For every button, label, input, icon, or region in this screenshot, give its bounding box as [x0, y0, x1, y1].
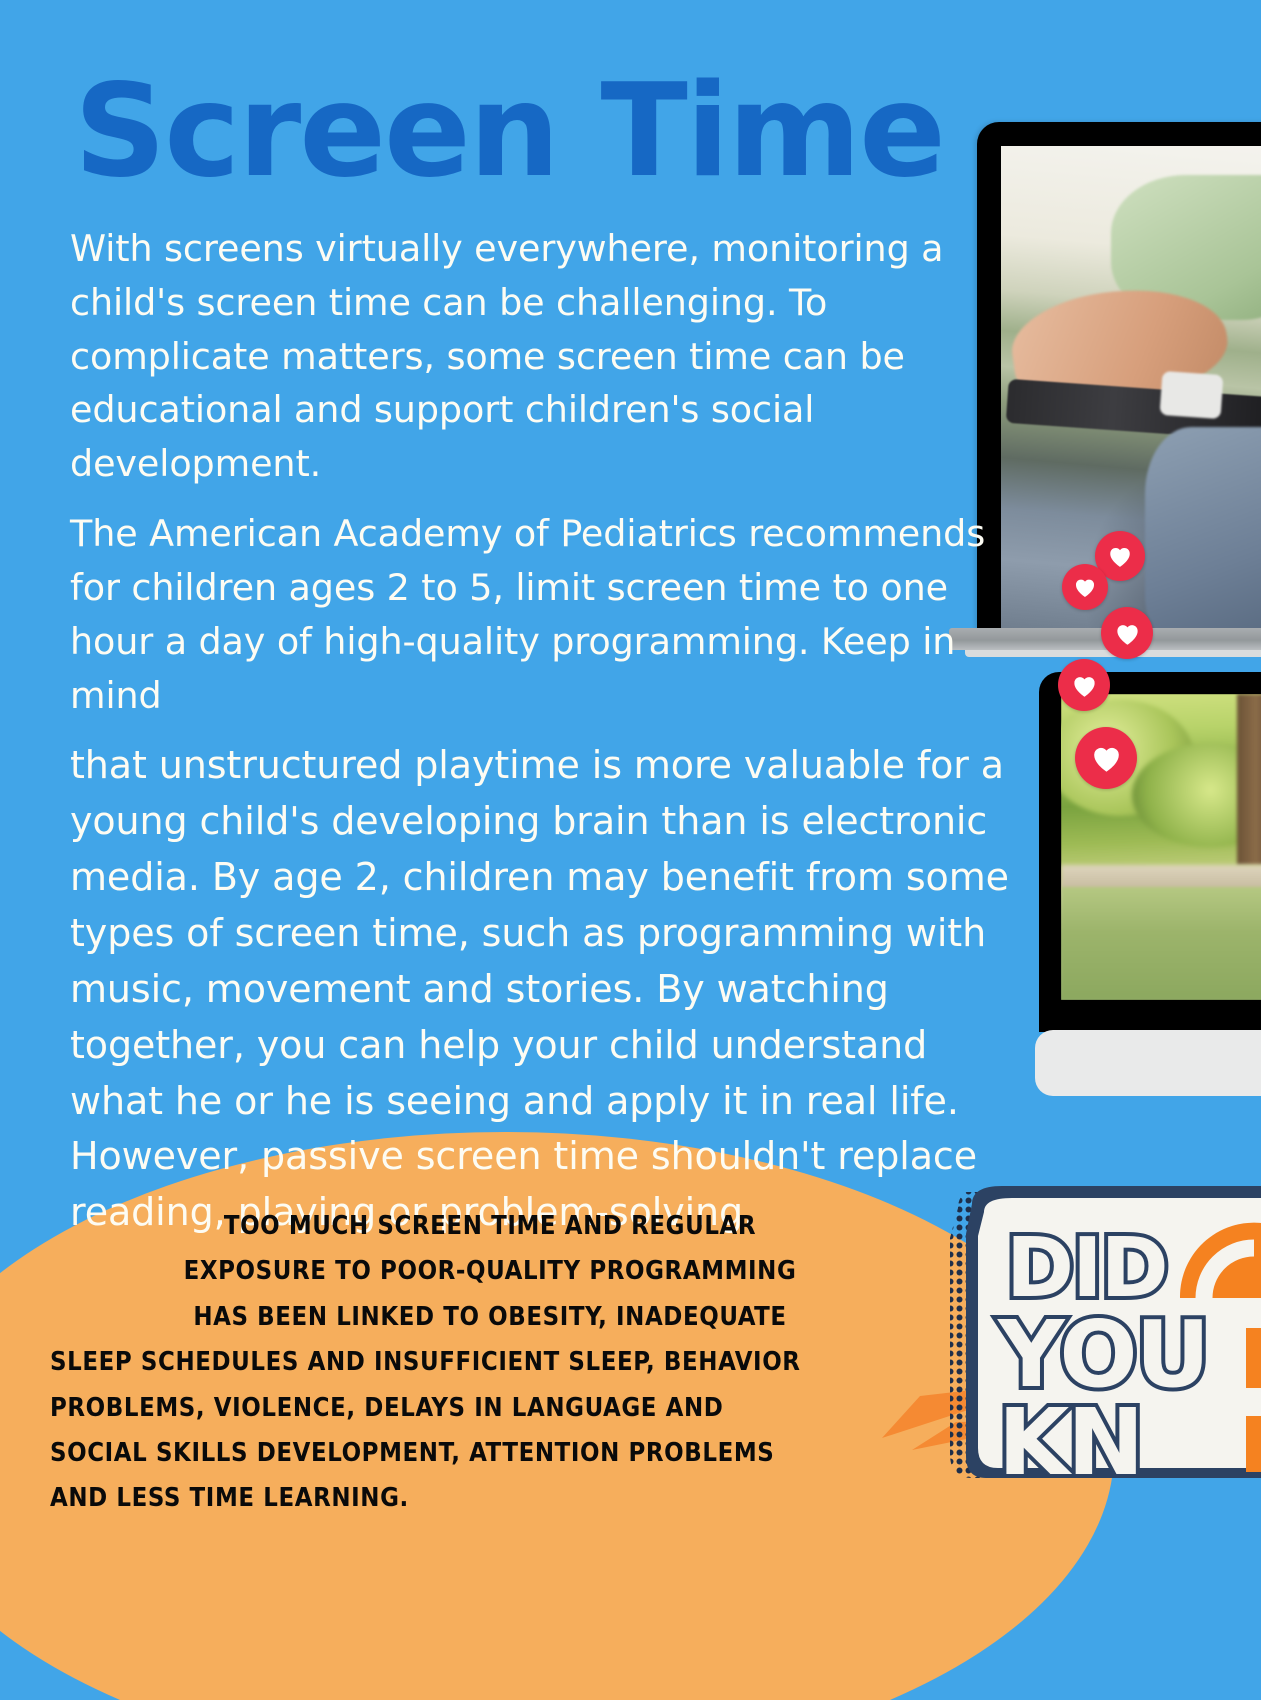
callout-line-1: Too much screen time and regular	[50, 1204, 930, 1249]
orange-bar	[1246, 1328, 1261, 1388]
body-copy: With screens virtually everywhere, monit…	[70, 222, 1030, 1257]
orange-bar	[1246, 1416, 1261, 1472]
paragraph-1: With screens virtually everywhere, monit…	[70, 222, 1030, 491]
tablet-device	[1039, 672, 1261, 1032]
heart-icon	[1101, 607, 1153, 659]
callout-line-7: and less time learning.	[50, 1476, 930, 1521]
paragraph-3: that unstructured playtime is more valua…	[70, 738, 1020, 1241]
heart-icon	[1075, 727, 1137, 789]
heart-icon	[1058, 659, 1110, 711]
heart-icon	[1062, 564, 1108, 610]
infographic-poster: Screen Time With screens virtually every…	[0, 0, 1261, 1700]
callout-line-2: exposure to poor-quality programming	[50, 1249, 930, 1294]
callout-line-4: sleep schedules and insufficient sleep, …	[50, 1340, 930, 1385]
callout-text: Too much screen time and regular exposur…	[50, 1204, 930, 1522]
tablet-stand	[1035, 1030, 1261, 1096]
callout-line-3: has been linked to obesity, inadequate	[50, 1295, 930, 1340]
badge-line-3: KN	[998, 1389, 1142, 1478]
page-title: Screen Time	[74, 68, 944, 196]
callout-line-5: problems, violence, delays in language a…	[50, 1386, 930, 1431]
callout-line-6: social skills development, attention pro…	[50, 1431, 930, 1476]
paragraph-2: The American Academy of Pediatrics recom…	[70, 507, 1030, 722]
did-you-know-badge: DID YOU KN	[928, 1178, 1261, 1478]
